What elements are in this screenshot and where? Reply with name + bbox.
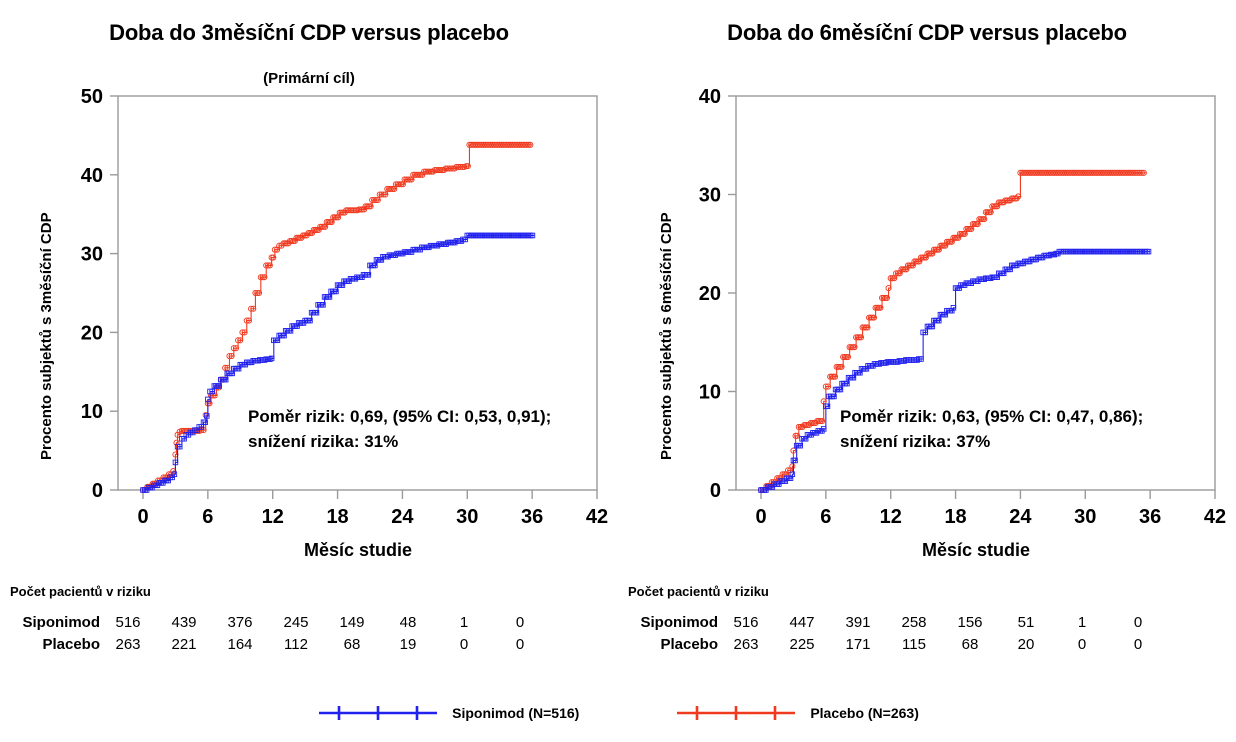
chart-panel-right: Doba do 6měsíční CDP versus placebo Proc… <box>618 0 1236 680</box>
risk-count-cell: 51 <box>998 612 1054 634</box>
legend-label: Placebo (N=263) <box>810 705 919 721</box>
x-tick-label: 36 <box>521 506 543 528</box>
x-tick-label: 0 <box>755 506 766 528</box>
risk-count-cell: 391 <box>830 612 886 634</box>
risk-table-left: Siponimod5164393762451494810Placebo26322… <box>0 612 548 656</box>
y-tick-label: 0 <box>710 480 721 502</box>
legend-line-swatch <box>317 704 439 722</box>
risk-count-cell: 263 <box>100 634 156 656</box>
risk-count-cell: 156 <box>942 612 998 634</box>
risk-count-cell: 19 <box>380 634 436 656</box>
legend-label: Siponimod (N=516) <box>452 705 579 721</box>
risk-count-cell: 258 <box>886 612 942 634</box>
risk-count-cell: 263 <box>718 634 774 656</box>
risk-count-cell: 68 <box>324 634 380 656</box>
risk-count-cell: 516 <box>100 612 156 634</box>
km-curve <box>761 173 1146 490</box>
y-tick-label: 0 <box>92 480 103 502</box>
censor-markers <box>140 142 533 492</box>
risk-count-cell: 376 <box>212 612 268 634</box>
risk-count-cell: 447 <box>774 612 830 634</box>
risk-count-cell: 516 <box>718 612 774 634</box>
risk-row-label: Siponimod <box>618 612 718 634</box>
risk-row-label: Placebo <box>0 634 100 656</box>
y-tick-label: 40 <box>81 165 103 187</box>
x-tick-label: 12 <box>262 506 284 528</box>
risk-count-cell: 48 <box>380 612 436 634</box>
km-plot-right: 01020304006121824303642 <box>618 0 1236 530</box>
x-axis-label: Měsíc studie <box>118 540 598 561</box>
km-plot-left: 0102030405006121824303642 <box>0 0 618 530</box>
risk-count-cell: 0 <box>1110 634 1166 656</box>
risk-count-cell: 115 <box>886 634 942 656</box>
x-tick-label: 12 <box>880 506 902 528</box>
y-tick-label: 10 <box>699 382 721 404</box>
x-tick-label: 36 <box>1139 506 1161 528</box>
table-row: Placebo263225171115682000 <box>618 634 1166 656</box>
risk-count-cell: 171 <box>830 634 886 656</box>
x-axis-label-right: Měsíc studie <box>736 540 1216 561</box>
x-tick-label: 18 <box>326 506 348 528</box>
risk-count-cell: 0 <box>1054 634 1110 656</box>
y-tick-label: 30 <box>699 185 721 207</box>
censor-markers <box>141 233 535 492</box>
table-row: Siponimod5164473912581565110 <box>618 612 1166 634</box>
chart-legend: Siponimod (N=516)Placebo (N=263) <box>0 690 1236 736</box>
risk-count-cell: 245 <box>268 612 324 634</box>
x-tick-label: 30 <box>1074 506 1096 528</box>
risk-table-right: Siponimod5164473912581565110Placebo26322… <box>618 612 1166 656</box>
censor-markers <box>759 249 1151 492</box>
x-tick-label: 18 <box>944 506 966 528</box>
y-tick-label: 50 <box>81 86 103 108</box>
risk-count-cell: 68 <box>942 634 998 656</box>
x-tick-label: 30 <box>456 506 478 528</box>
risk-count-cell: 1 <box>436 612 492 634</box>
risk-count-cell: 0 <box>436 634 492 656</box>
x-tick-label: 6 <box>820 506 831 528</box>
y-tick-label: 40 <box>699 86 721 108</box>
risk-table-title-right: Počet pacientů v riziku <box>628 584 769 599</box>
risk-count-cell: 439 <box>156 612 212 634</box>
y-tick-label: 10 <box>81 401 103 423</box>
risk-count-cell: 0 <box>492 612 548 634</box>
risk-count-cell: 221 <box>156 634 212 656</box>
x-tick-label: 42 <box>1204 506 1226 528</box>
table-row: Siponimod5164393762451494810 <box>0 612 548 634</box>
risk-count-cell: 112 <box>268 634 324 656</box>
x-tick-label: 6 <box>202 506 213 528</box>
y-tick-label: 30 <box>81 244 103 266</box>
km-curve <box>143 145 532 490</box>
x-tick-label: 24 <box>391 506 414 528</box>
x-tick-label: 0 <box>137 506 148 528</box>
km-curve <box>143 235 534 490</box>
risk-count-cell: 0 <box>1110 612 1166 634</box>
chart-panel-left: Doba do 3měsíční CDP versus placebo (Pri… <box>0 0 618 680</box>
risk-count-cell: 1 <box>1054 612 1110 634</box>
y-tick-label: 20 <box>81 322 103 344</box>
legend-item[interactable]: Placebo (N=263) <box>675 704 919 722</box>
legend-item[interactable]: Siponimod (N=516) <box>317 704 579 722</box>
y-tick-label: 20 <box>699 283 721 305</box>
risk-table-title-left: Počet pacientů v riziku <box>10 584 151 599</box>
km-curve <box>761 252 1150 490</box>
risk-row-label: Siponimod <box>0 612 100 634</box>
table-row: Placebo263221164112681900 <box>0 634 548 656</box>
risk-count-cell: 225 <box>774 634 830 656</box>
risk-count-cell: 149 <box>324 612 380 634</box>
risk-count-cell: 0 <box>492 634 548 656</box>
risk-count-cell: 164 <box>212 634 268 656</box>
risk-row-label: Placebo <box>618 634 718 656</box>
risk-count-cell: 20 <box>998 634 1054 656</box>
x-tick-label: 24 <box>1009 506 1032 528</box>
x-tick-label: 42 <box>586 506 608 528</box>
legend-line-swatch <box>675 704 797 722</box>
censor-markers <box>758 170 1146 492</box>
